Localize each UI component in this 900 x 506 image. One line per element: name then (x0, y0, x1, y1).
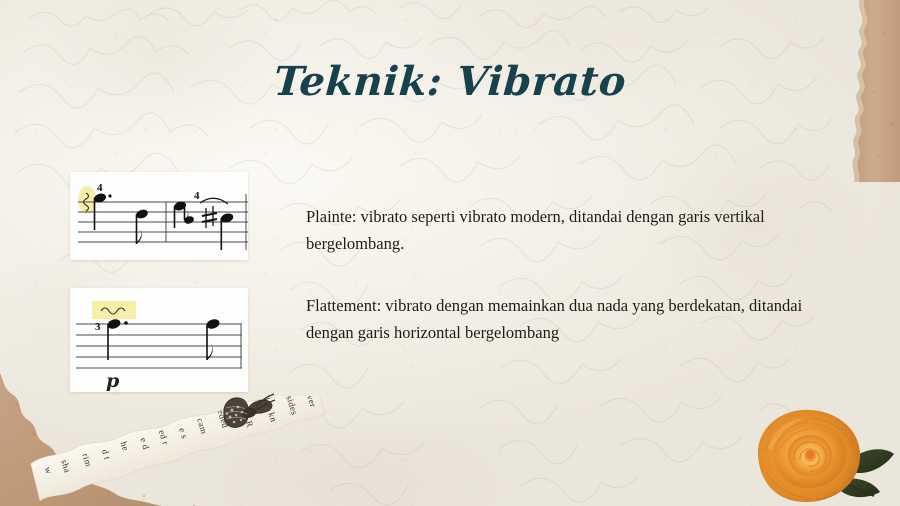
rose-image (742, 404, 900, 506)
paragraph-plainte: Plainte: vibrato seperti vibrato modern,… (306, 204, 818, 257)
fingering-4-first: 4 (97, 182, 103, 194)
torn-book-page-strip: w sha rim d t he e d ed r e s cam eded p… (28, 396, 328, 506)
fingering-3: 3 (95, 321, 101, 333)
slide-canvas: Teknik: Vibrato 4 (0, 0, 900, 506)
moth-icon (216, 386, 278, 436)
body-text-column: Plainte: vibrato seperti vibrato modern,… (306, 204, 818, 347)
fingering-4-second: 4 (194, 190, 200, 202)
page-title: Teknik: Vibrato (0, 58, 900, 105)
plainte-notation-image: 4 4 (70, 172, 248, 260)
flattement-highlight (92, 301, 136, 319)
paragraph-flattement: Flattement: vibrato dengan memainkan dua… (306, 293, 818, 346)
torn-kraft-paper-right (830, 0, 900, 182)
